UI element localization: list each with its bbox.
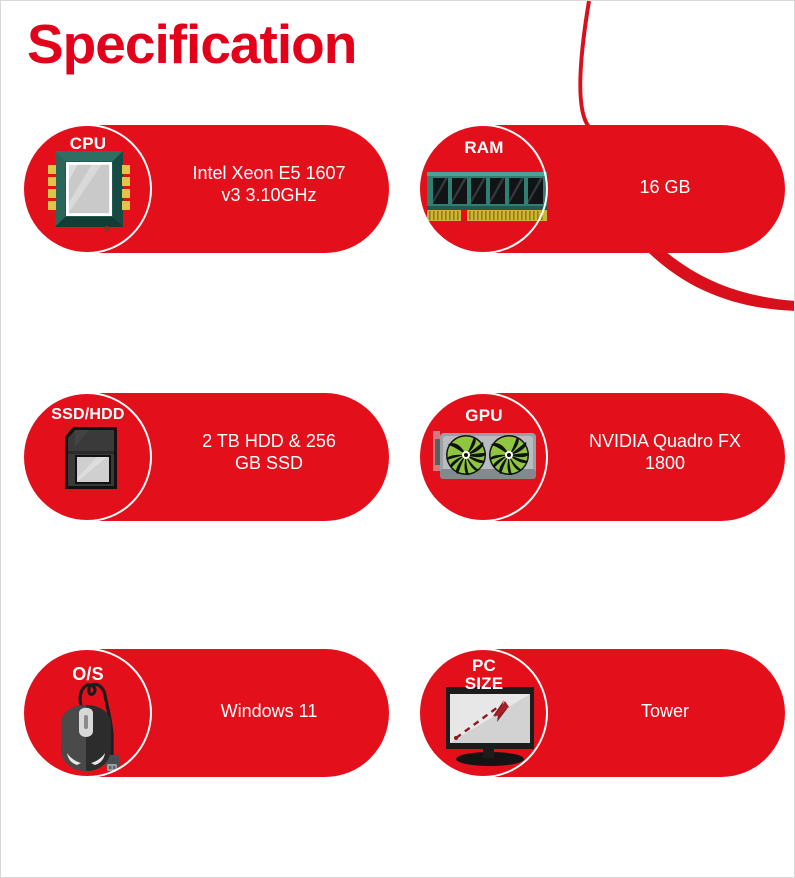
spec-card-pc-size[interactable]: PC SIZE Tower (419, 649, 785, 777)
spec-badge-storage: SSD/HDD (33, 407, 143, 424)
spec-badge-gpu: GPU (429, 407, 539, 425)
spec-badge-os: O/S (33, 665, 143, 684)
page-title: Specification (27, 17, 356, 72)
spec-value-cpu: Intel Xeon E5 1607 v3 3.10GHz (151, 163, 387, 207)
spec-value-gpu-line1: NVIDIA Quadro FX (547, 431, 783, 453)
spec-value-pc-size: Tower (547, 701, 783, 723)
spec-card-gpu[interactable]: GPU NVIDIA Quadro FX 1800 (419, 393, 785, 521)
spec-card-ram[interactable]: RAM 16 GB (419, 125, 785, 253)
spec-value-cpu-line2: v3 3.10GHz (151, 185, 387, 207)
spec-value-ram-line1: 16 GB (547, 177, 783, 199)
spec-card-cpu[interactable]: CPU Intel Xeon E5 1607 v3 3.10GHz (23, 125, 389, 253)
specification-infographic: Specification (0, 0, 795, 878)
spec-card-os[interactable]: O/S Windows 11 (23, 649, 389, 777)
spec-badge-ram: RAM (429, 139, 539, 157)
spec-value-os: Windows 11 (151, 701, 387, 723)
spec-value-pc-size-line1: Tower (547, 701, 783, 723)
spec-value-storage-line1: 2 TB HDD & 256 (151, 431, 387, 453)
spec-value-ram: 16 GB (547, 177, 783, 199)
spec-value-storage-line2: GB SSD (151, 453, 387, 475)
spec-value-os-line1: Windows 11 (151, 701, 387, 723)
spec-value-storage: 2 TB HDD & 256 GB SSD (151, 431, 387, 475)
spec-value-gpu: NVIDIA Quadro FX 1800 (547, 431, 783, 475)
spec-badge-cpu: CPU (33, 135, 143, 153)
spec-card-storage[interactable]: SSD/HDD 2 TB HDD & 256 GB SSD (23, 393, 389, 521)
spec-badge-pc-size: PC SIZE (429, 657, 539, 693)
spec-value-cpu-line1: Intel Xeon E5 1607 (151, 163, 387, 185)
spec-value-gpu-line2: 1800 (547, 453, 783, 475)
